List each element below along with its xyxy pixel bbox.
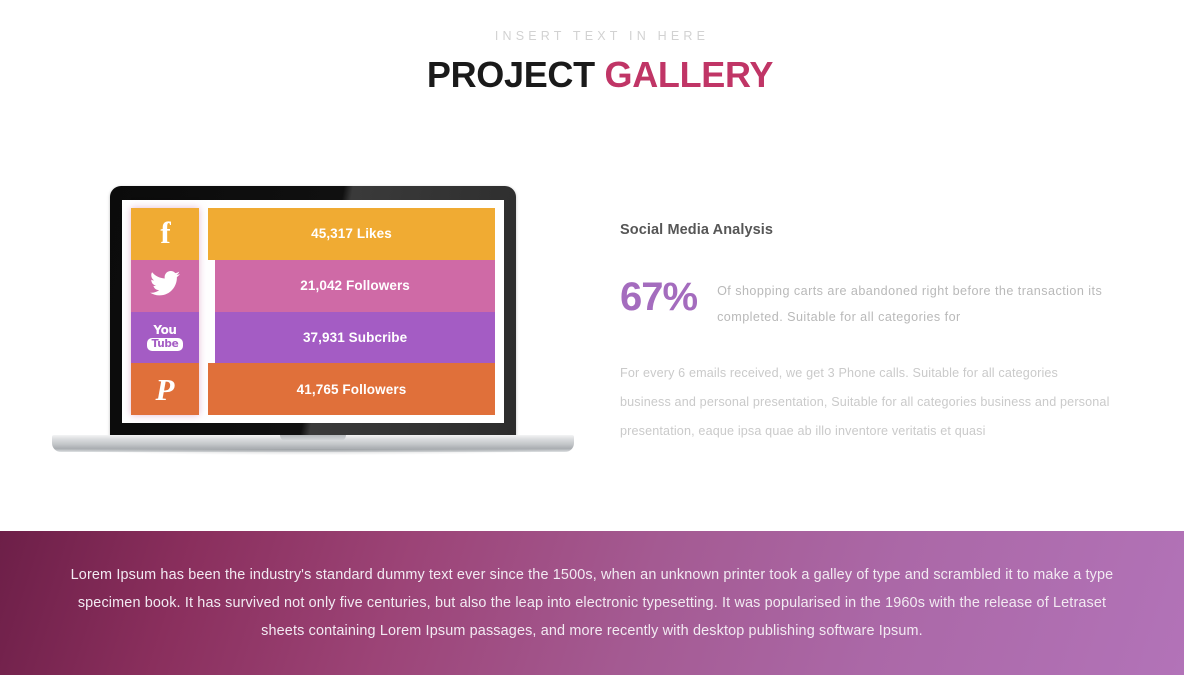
page-title-accent: GALLERY <box>605 54 774 95</box>
social-stat-value: 37,931 Subcribe <box>303 330 407 345</box>
social-stat-value: 41,765 Followers <box>297 382 407 397</box>
social-stats-bars: 45,317 Likes 21,042 Followers 37,931 Sub… <box>208 208 495 415</box>
slide-header: INSERT TEXT IN HERE PROJECT GALLERY <box>0 30 1200 94</box>
social-icon-cell-pinterest[interactable]: P <box>131 363 199 415</box>
social-icon-column: f You Tube <box>131 208 199 415</box>
social-icon-cell-twitter[interactable] <box>131 260 199 312</box>
youtube-icon-top: You <box>153 324 176 336</box>
stat-row: 67% Of shopping carts are abandoned righ… <box>620 276 1110 331</box>
pinterest-icon: P <box>156 374 175 405</box>
youtube-icon-bottom: Tube <box>147 338 184 352</box>
facebook-icon: f <box>160 217 169 248</box>
social-stat-bar[interactable]: 41,765 Followers <box>208 363 495 415</box>
laptop-shadow <box>54 449 572 455</box>
twitter-icon <box>150 271 180 301</box>
bottom-banner: Lorem Ipsum has been the industry's stan… <box>0 531 1184 675</box>
laptop-screen: f You Tube <box>122 200 504 423</box>
header-eyebrow: INSERT TEXT IN HERE <box>0 30 1200 43</box>
youtube-icon: You Tube <box>147 324 184 352</box>
analysis-heading: Social Media Analysis <box>620 222 1110 238</box>
social-stat-bar[interactable]: 21,042 Followers <box>215 260 495 312</box>
analysis-body-copy: For every 6 emails received, we get 3 Ph… <box>620 359 1110 446</box>
social-stat-bar[interactable]: 45,317 Likes <box>208 208 495 260</box>
laptop-lid: f You Tube <box>110 186 516 438</box>
stat-percentage: 67% <box>620 276 697 316</box>
page-title: PROJECT GALLERY <box>0 55 1200 95</box>
social-stat-value: 21,042 Followers <box>300 278 410 293</box>
page-title-primary: PROJECT <box>427 54 595 95</box>
social-stat-value: 45,317 Likes <box>311 226 392 241</box>
social-icon-cell-facebook[interactable]: f <box>131 208 199 260</box>
analysis-panel: Social Media Analysis 67% Of shopping ca… <box>620 222 1110 446</box>
social-icon-cell-youtube[interactable]: You Tube <box>131 312 199 364</box>
social-stat-bar[interactable]: 37,931 Subcribe <box>215 312 495 364</box>
slide-root: INSERT TEXT IN HERE PROJECT GALLERY f <box>0 0 1200 675</box>
stat-description: Of shopping carts are abandoned right be… <box>717 276 1110 331</box>
bottom-banner-text: Lorem Ipsum has been the industry's stan… <box>57 561 1127 645</box>
laptop-mockup: f You Tube <box>52 186 574 474</box>
